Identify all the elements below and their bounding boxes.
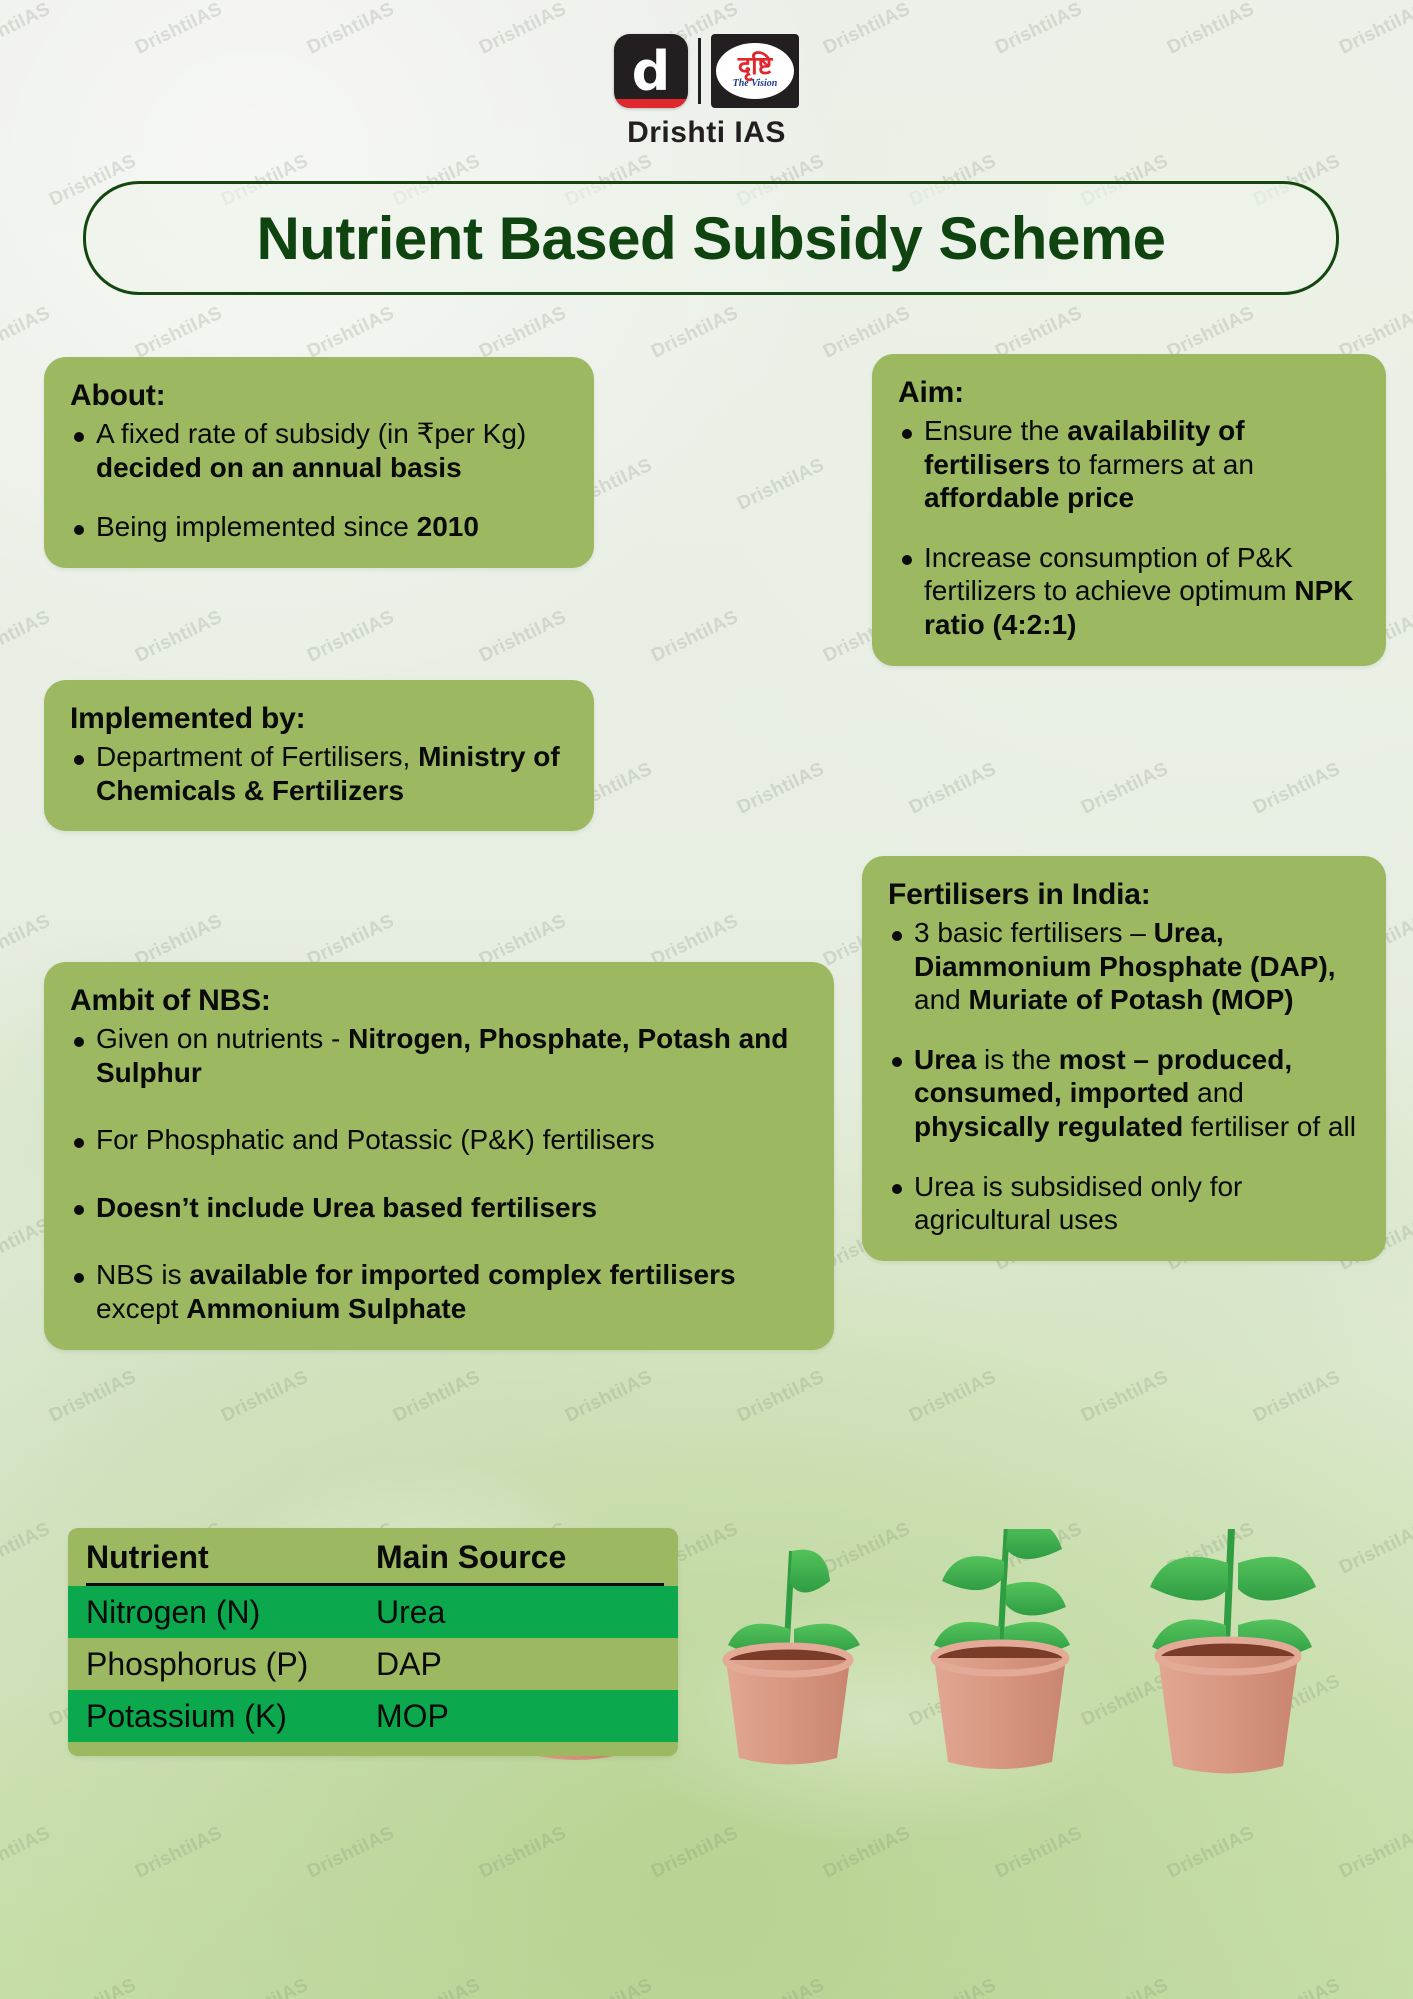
cell-main-source: DAP [376, 1646, 442, 1683]
card-ambit-heading: Ambit of NBS: [70, 984, 808, 1018]
card-ambit-list: Given on nutrients - Nitrogen, Phosphate… [70, 1022, 808, 1326]
card-implemented-by: Implemented by: Department of Fertiliser… [44, 680, 594, 831]
logo-letter: d [614, 36, 688, 108]
card-about-list: A fixed rate of subsidy (in ₹per Kg) dec… [70, 417, 568, 544]
list-item: A fixed rate of subsidy (in ₹per Kg) dec… [70, 417, 568, 484]
list-item: NBS is available for imported complex fe… [70, 1258, 808, 1325]
card-aim: Aim: Ensure the availability of fertilis… [872, 354, 1386, 666]
card-aim-heading: Aim: [898, 376, 1360, 410]
list-item: Urea is subsidised only for agricultural… [888, 1170, 1360, 1237]
cell-nutrient: Nitrogen (N) [86, 1594, 376, 1631]
card-ambit-of-nbs: Ambit of NBS: Given on nutrients - Nitro… [44, 962, 834, 1350]
nutrient-source-table: Nutrient Main Source Nitrogen (N) Urea P… [68, 1528, 678, 1756]
drishti-d-logo-icon: d [614, 34, 688, 108]
page-title: Nutrient Based Subsidy Scheme [256, 204, 1165, 273]
list-item: For Phosphatic and Potassic (P&K) fertil… [70, 1123, 808, 1157]
card-implemented-by-heading: Implemented by: [70, 702, 568, 736]
table-row: Phosphorus (P) DAP [68, 1638, 678, 1690]
card-about-heading: About: [70, 379, 568, 413]
table-row: Nitrogen (N) Urea [68, 1586, 678, 1638]
logo-row: d दृष्टि The Vision [614, 34, 799, 108]
card-fertilisers-list: 3 basic fertilisers – Urea, Diammonium P… [888, 916, 1360, 1237]
list-item: Increase consumption of P&K fertilizers … [898, 541, 1360, 642]
list-item: Given on nutrients - Nitrogen, Phosphate… [70, 1022, 808, 1089]
title-banner: Nutrient Based Subsidy Scheme [83, 181, 1339, 295]
brand-header: d दृष्टि The Vision Drishti IAS [0, 34, 1413, 150]
card-about: About: A fixed rate of subsidy (in ₹per … [44, 357, 594, 568]
list-item: Urea is the most – produced, consumed, i… [888, 1043, 1360, 1144]
list-item: Ensure the availability of fertilisers t… [898, 414, 1360, 515]
list-item: Doesn’t include Urea based fertilisers [70, 1191, 808, 1225]
card-aim-list: Ensure the availability of fertilisers t… [898, 414, 1360, 642]
card-implemented-by-list: Department of Fertilisers, Ministry of C… [70, 740, 568, 807]
logo-red-bar [614, 99, 688, 108]
cell-nutrient: Phosphorus (P) [86, 1646, 376, 1683]
cell-main-source: MOP [376, 1698, 449, 1735]
cell-nutrient: Potassium (K) [86, 1698, 376, 1735]
brand-name: Drishti IAS [627, 116, 786, 150]
drishti-hindi-logo-icon: दृष्टि The Vision [711, 34, 799, 108]
card-fertilisers-heading: Fertilisers in India: [888, 878, 1360, 912]
infographic-sheet: d दृष्टि The Vision Drishti IAS Nutrient… [0, 0, 1413, 1999]
logo-hindi-text: दृष्टि [738, 53, 772, 78]
list-item: Being implemented since 2010 [70, 510, 568, 544]
logo-divider [698, 38, 701, 104]
table-header-row: Nutrient Main Source [68, 1528, 678, 1586]
logo-oval: दृष्टि The Vision [716, 43, 794, 99]
column-header-nutrient: Nutrient [86, 1539, 376, 1576]
table-row: Potassium (K) MOP [68, 1690, 678, 1742]
logo-tagline: The Vision [733, 79, 778, 89]
column-header-main-source: Main Source [376, 1539, 566, 1576]
cell-main-source: Urea [376, 1594, 445, 1631]
card-fertilisers-in-india: Fertilisers in India: 3 basic fertiliser… [862, 856, 1386, 1261]
list-item: Department of Fertilisers, Ministry of C… [70, 740, 568, 807]
list-item: 3 basic fertilisers – Urea, Diammonium P… [888, 916, 1360, 1017]
